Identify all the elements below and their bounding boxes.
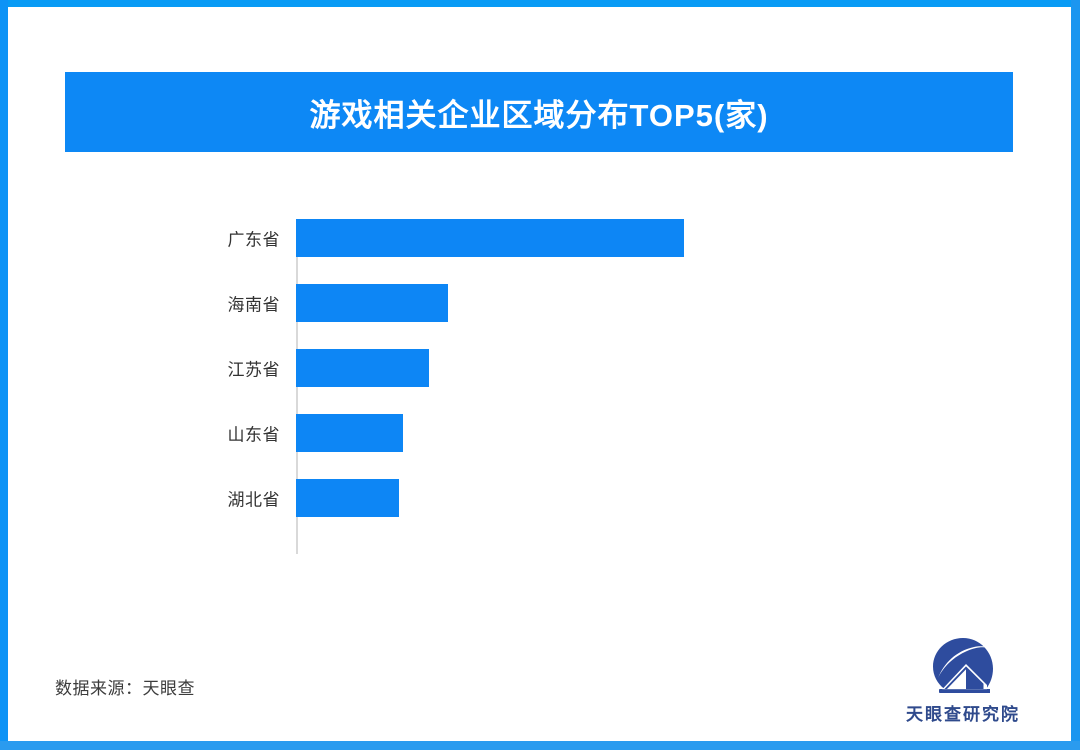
page-title: 游戏相关企业区域分布TOP5(家) bbox=[309, 90, 768, 135]
chart-bar-wrapper bbox=[296, 219, 684, 257]
infographic-page: 游戏相关企业区域分布TOP5(家) 广东省海南省江苏省山东省湖北省 数据来源：天… bbox=[0, 0, 1080, 750]
title-banner: 游戏相关企业区域分布TOP5(家) bbox=[65, 72, 1013, 152]
chart-row: 山东省 bbox=[0, 400, 1080, 465]
chart-row: 湖北省 bbox=[0, 465, 1080, 530]
chart-row: 广东省 bbox=[0, 205, 1080, 270]
chart-row: 江苏省 bbox=[0, 335, 1080, 400]
chart-bar-wrapper bbox=[296, 479, 399, 517]
chart-category-label: 海南省 bbox=[120, 290, 280, 315]
tianyancha-eagle-logo-icon bbox=[930, 637, 996, 695]
chart-row: 海南省 bbox=[0, 270, 1080, 335]
chart-bar[interactable] bbox=[296, 479, 399, 517]
chart-bar-wrapper bbox=[296, 349, 429, 387]
chart-bar-wrapper bbox=[296, 414, 403, 452]
chart-category-label: 湖北省 bbox=[120, 485, 280, 510]
brand-logo: 天眼查研究院 bbox=[893, 637, 1033, 732]
chart-bar[interactable] bbox=[296, 219, 684, 257]
chart-bar[interactable] bbox=[296, 284, 448, 322]
frame-border-top bbox=[0, 0, 1080, 7]
chart-bar[interactable] bbox=[296, 414, 403, 452]
chart-category-label: 山东省 bbox=[120, 420, 280, 445]
chart-category-label: 广东省 bbox=[120, 225, 280, 250]
chart-rows: 广东省海南省江苏省山东省湖北省 bbox=[0, 205, 1080, 530]
chart-bar[interactable] bbox=[296, 349, 429, 387]
chart-category-label: 江苏省 bbox=[120, 355, 280, 380]
chart-bar-wrapper bbox=[296, 284, 448, 322]
frame-border-bottom bbox=[0, 741, 1080, 750]
bar-chart: 广东省海南省江苏省山东省湖北省 bbox=[0, 205, 1080, 565]
data-source-note: 数据来源：天眼查 bbox=[55, 674, 195, 699]
brand-logo-text: 天眼查研究院 bbox=[906, 700, 1020, 725]
